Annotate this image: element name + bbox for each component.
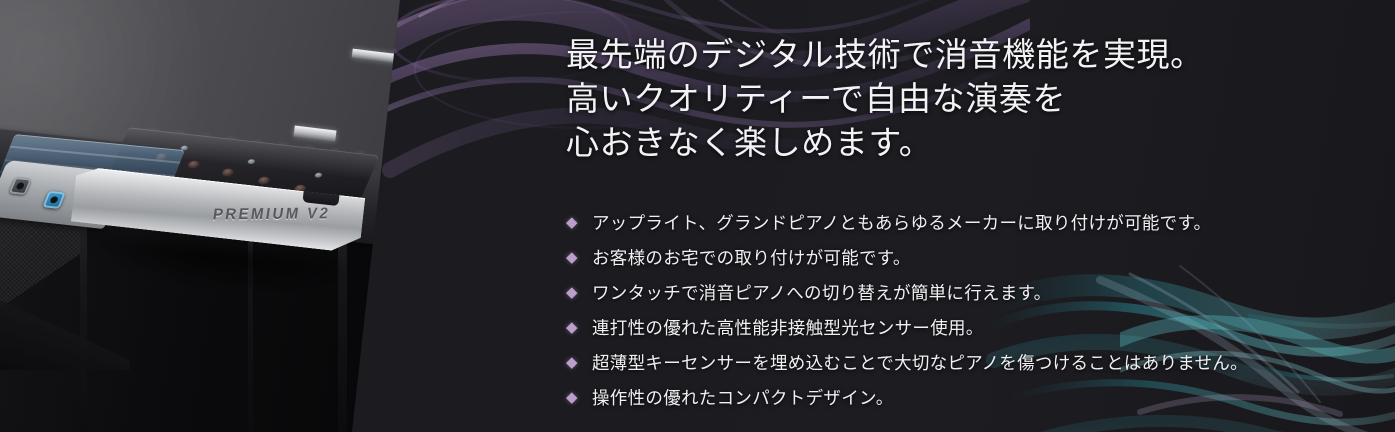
unit-button — [187, 160, 201, 169]
headline: 最先端のデジタル技術で消音機能を実現。 高いクオリティーで自由な演奏を 心おきな… — [566, 34, 1326, 166]
headline-line-1: 最先端のデジタル技術で消音機能を実現。 — [566, 34, 1326, 78]
unit-led — [314, 172, 323, 178]
feature-item: ◆ 操作性の優れたコンパクトデザイン。 — [566, 381, 1346, 416]
feature-item: ◆ 連打性の優れた高性能非接触型光センサー使用。 — [566, 311, 1346, 346]
rail-highlight — [10, 146, 181, 164]
silent-piano-promo-banner: PREMIUM V2 — [0, 0, 1395, 432]
headphone-jack-blue — [42, 191, 66, 209]
diamond-bullet-icon: ◆ — [566, 311, 578, 346]
feature-text: 操作性の優れたコンパクトデザイン。 — [592, 388, 894, 408]
silent-system-control-unit: PREMIUM V2 — [65, 122, 370, 303]
feature-text: 連打性の優れた高性能非接触型光センサー使用。 — [592, 318, 984, 338]
feature-list: ◆ アップライト、グランドピアノともあらゆるメーカーに取り付けが可能です。 ◆ … — [566, 206, 1346, 416]
headphone-jack — [8, 177, 32, 195]
feature-text: 超薄型キーセンサーを埋め込むことで大切なピアノを傷つけることはありません。 — [592, 353, 1248, 373]
diamond-bullet-icon: ◆ — [566, 276, 578, 311]
feature-item: ◆ ワンタッチで消音ピアノへの切り替えが簡単に行えます。 — [566, 276, 1346, 311]
headline-line-2: 高いクオリティーで自由な演奏を — [566, 78, 1326, 122]
diamond-bullet-icon: ◆ — [566, 206, 578, 241]
unit-button — [221, 168, 235, 177]
feature-text: ワンタッチで消音ピアノへの切り替えが簡単に行えます。 — [592, 283, 1051, 303]
headline-line-3: 心おきなく楽しめます。 — [566, 122, 1326, 166]
unit-button — [257, 176, 271, 185]
feature-text: お客様のお宅での取り付けが可能です。 — [592, 248, 911, 268]
diamond-bullet-icon: ◆ — [566, 346, 578, 381]
diamond-bullet-icon: ◆ — [566, 241, 578, 276]
feature-item: ◆ アップライト、グランドピアノともあらゆるメーカーに取り付けが可能です。 — [566, 206, 1346, 241]
feature-item: ◆ 超薄型キーセンサーを埋め込むことで大切なピアノを傷つけることはありません。 — [566, 346, 1346, 381]
feature-item: ◆ お客様のお宅での取り付けが可能です。 — [566, 241, 1346, 276]
product-photo: PREMIUM V2 — [0, 0, 420, 432]
diamond-bullet-icon: ◆ — [566, 381, 578, 416]
feature-text: アップライト、グランドピアノともあらゆるメーカーに取り付けが可能です。 — [592, 213, 1211, 233]
